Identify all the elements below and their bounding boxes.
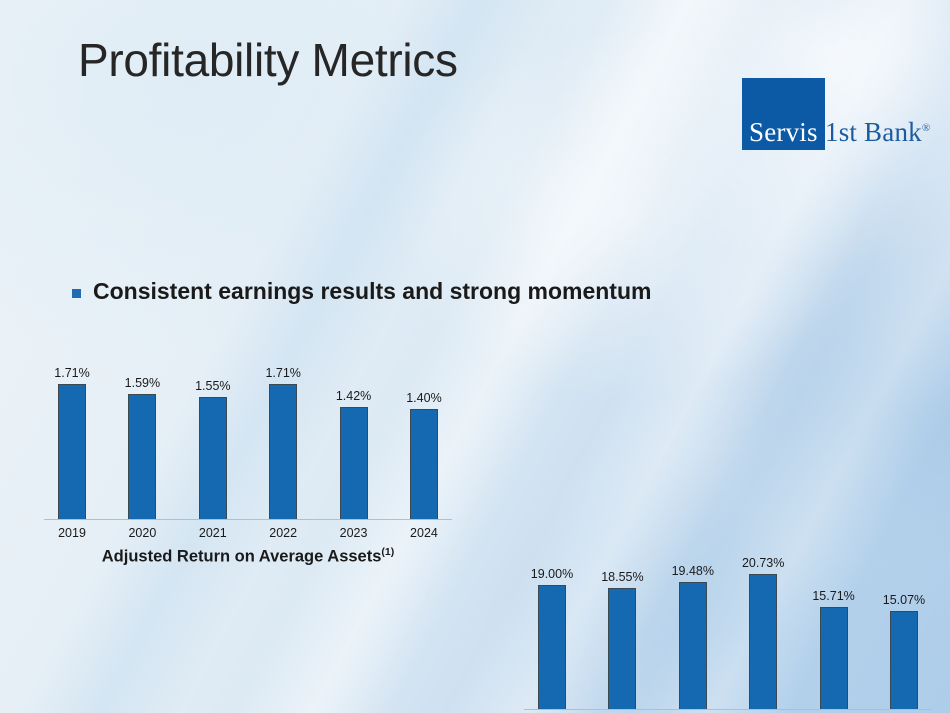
plot-area: 19.00%18.55%19.48%20.73%15.71%15.07% [524,559,932,710]
bar-value-label: 19.00% [531,567,573,581]
bar-value-label: 15.71% [812,589,854,603]
bar-item: 1.42% [340,369,368,520]
bar-rect [269,384,297,520]
plot-area: 1.71%1.59%1.55%1.71%1.42%1.40% [44,369,452,520]
square-bullet-icon [72,289,81,298]
bar-value-label: 1.71% [265,366,300,380]
x-axis-line [44,519,452,520]
x-tick-label: 2021 [199,526,227,540]
bar-item: 18.55% [608,559,636,710]
bar-rect [340,407,368,520]
servisfirst-bank-logo: Servis 1st Bank® [742,78,934,154]
bar-rect [679,582,707,710]
bar-rect [820,607,848,710]
bar-value-label: 1.71% [54,366,89,380]
bar-rect [128,394,156,520]
slide-canvas: Profitability Metrics Servis 1st Bank® C… [0,0,950,713]
bar-value-label: 1.42% [336,389,371,403]
bar-rect [199,397,227,520]
bar-item: 19.00% [538,559,566,710]
x-tick-label: 2024 [410,526,438,540]
bar-rect [410,409,438,520]
logo-word-text: 1st Bank® [825,119,930,146]
bar-item: 1.71% [58,369,86,520]
chart-caption-text: Adjusted Return on Average Assets [102,548,382,566]
bar-value-label: 19.48% [672,564,714,578]
bar-value-label: 1.40% [406,391,441,405]
bar-item: 1.71% [269,369,297,520]
bar-value-label: 20.73% [742,556,784,570]
x-axis-line [524,709,932,710]
x-tick-label: 2019 [58,526,86,540]
x-tick-label: 2023 [340,526,368,540]
chart-adjusted-return-on-average-assets: 1.71%1.59%1.55%1.71%1.42%1.40% 201920202… [44,369,452,559]
bar-item: 19.48% [679,559,707,710]
bar-item: 15.07% [890,559,918,710]
bar-item: 20.73% [749,559,777,710]
logo-mark-text: Servis [749,119,818,146]
bar-item: 1.59% [128,369,156,520]
x-tick-label: 2020 [128,526,156,540]
bar-item: 1.55% [199,369,227,520]
x-axis-tick-labels: 201920202021202220232024 [44,526,452,540]
bar-rect [890,611,918,710]
registered-mark-icon: ® [922,122,931,134]
chart-caption-superscript: (1) [381,546,394,558]
headline-bullet-row: Consistent earnings results and strong m… [72,278,950,305]
bar-series: 1.71%1.59%1.55%1.71%1.42%1.40% [44,369,452,520]
bar-item: 15.71% [820,559,848,710]
bar-item: 1.40% [410,369,438,520]
chart-adjusted-return-on-average-equity: 19.00%18.55%19.48%20.73%15.71%15.07% 201… [524,559,932,713]
bar-rect [608,588,636,710]
bar-series: 19.00%18.55%19.48%20.73%15.71%15.07% [524,559,932,710]
chart-caption: Adjusted Return on Average Assets(1) [44,546,452,567]
bar-value-label: 18.55% [601,570,643,584]
bar-value-label: 15.07% [883,593,925,607]
bar-rect [58,384,86,520]
bar-rect [538,585,566,710]
bar-value-label: 1.55% [195,379,230,393]
bar-rect [749,574,777,710]
bar-value-label: 1.59% [125,376,160,390]
headline-bullet-text: Consistent earnings results and strong m… [93,278,651,305]
x-tick-label: 2022 [269,526,297,540]
logo-word-main: 1st Bank [825,117,922,147]
